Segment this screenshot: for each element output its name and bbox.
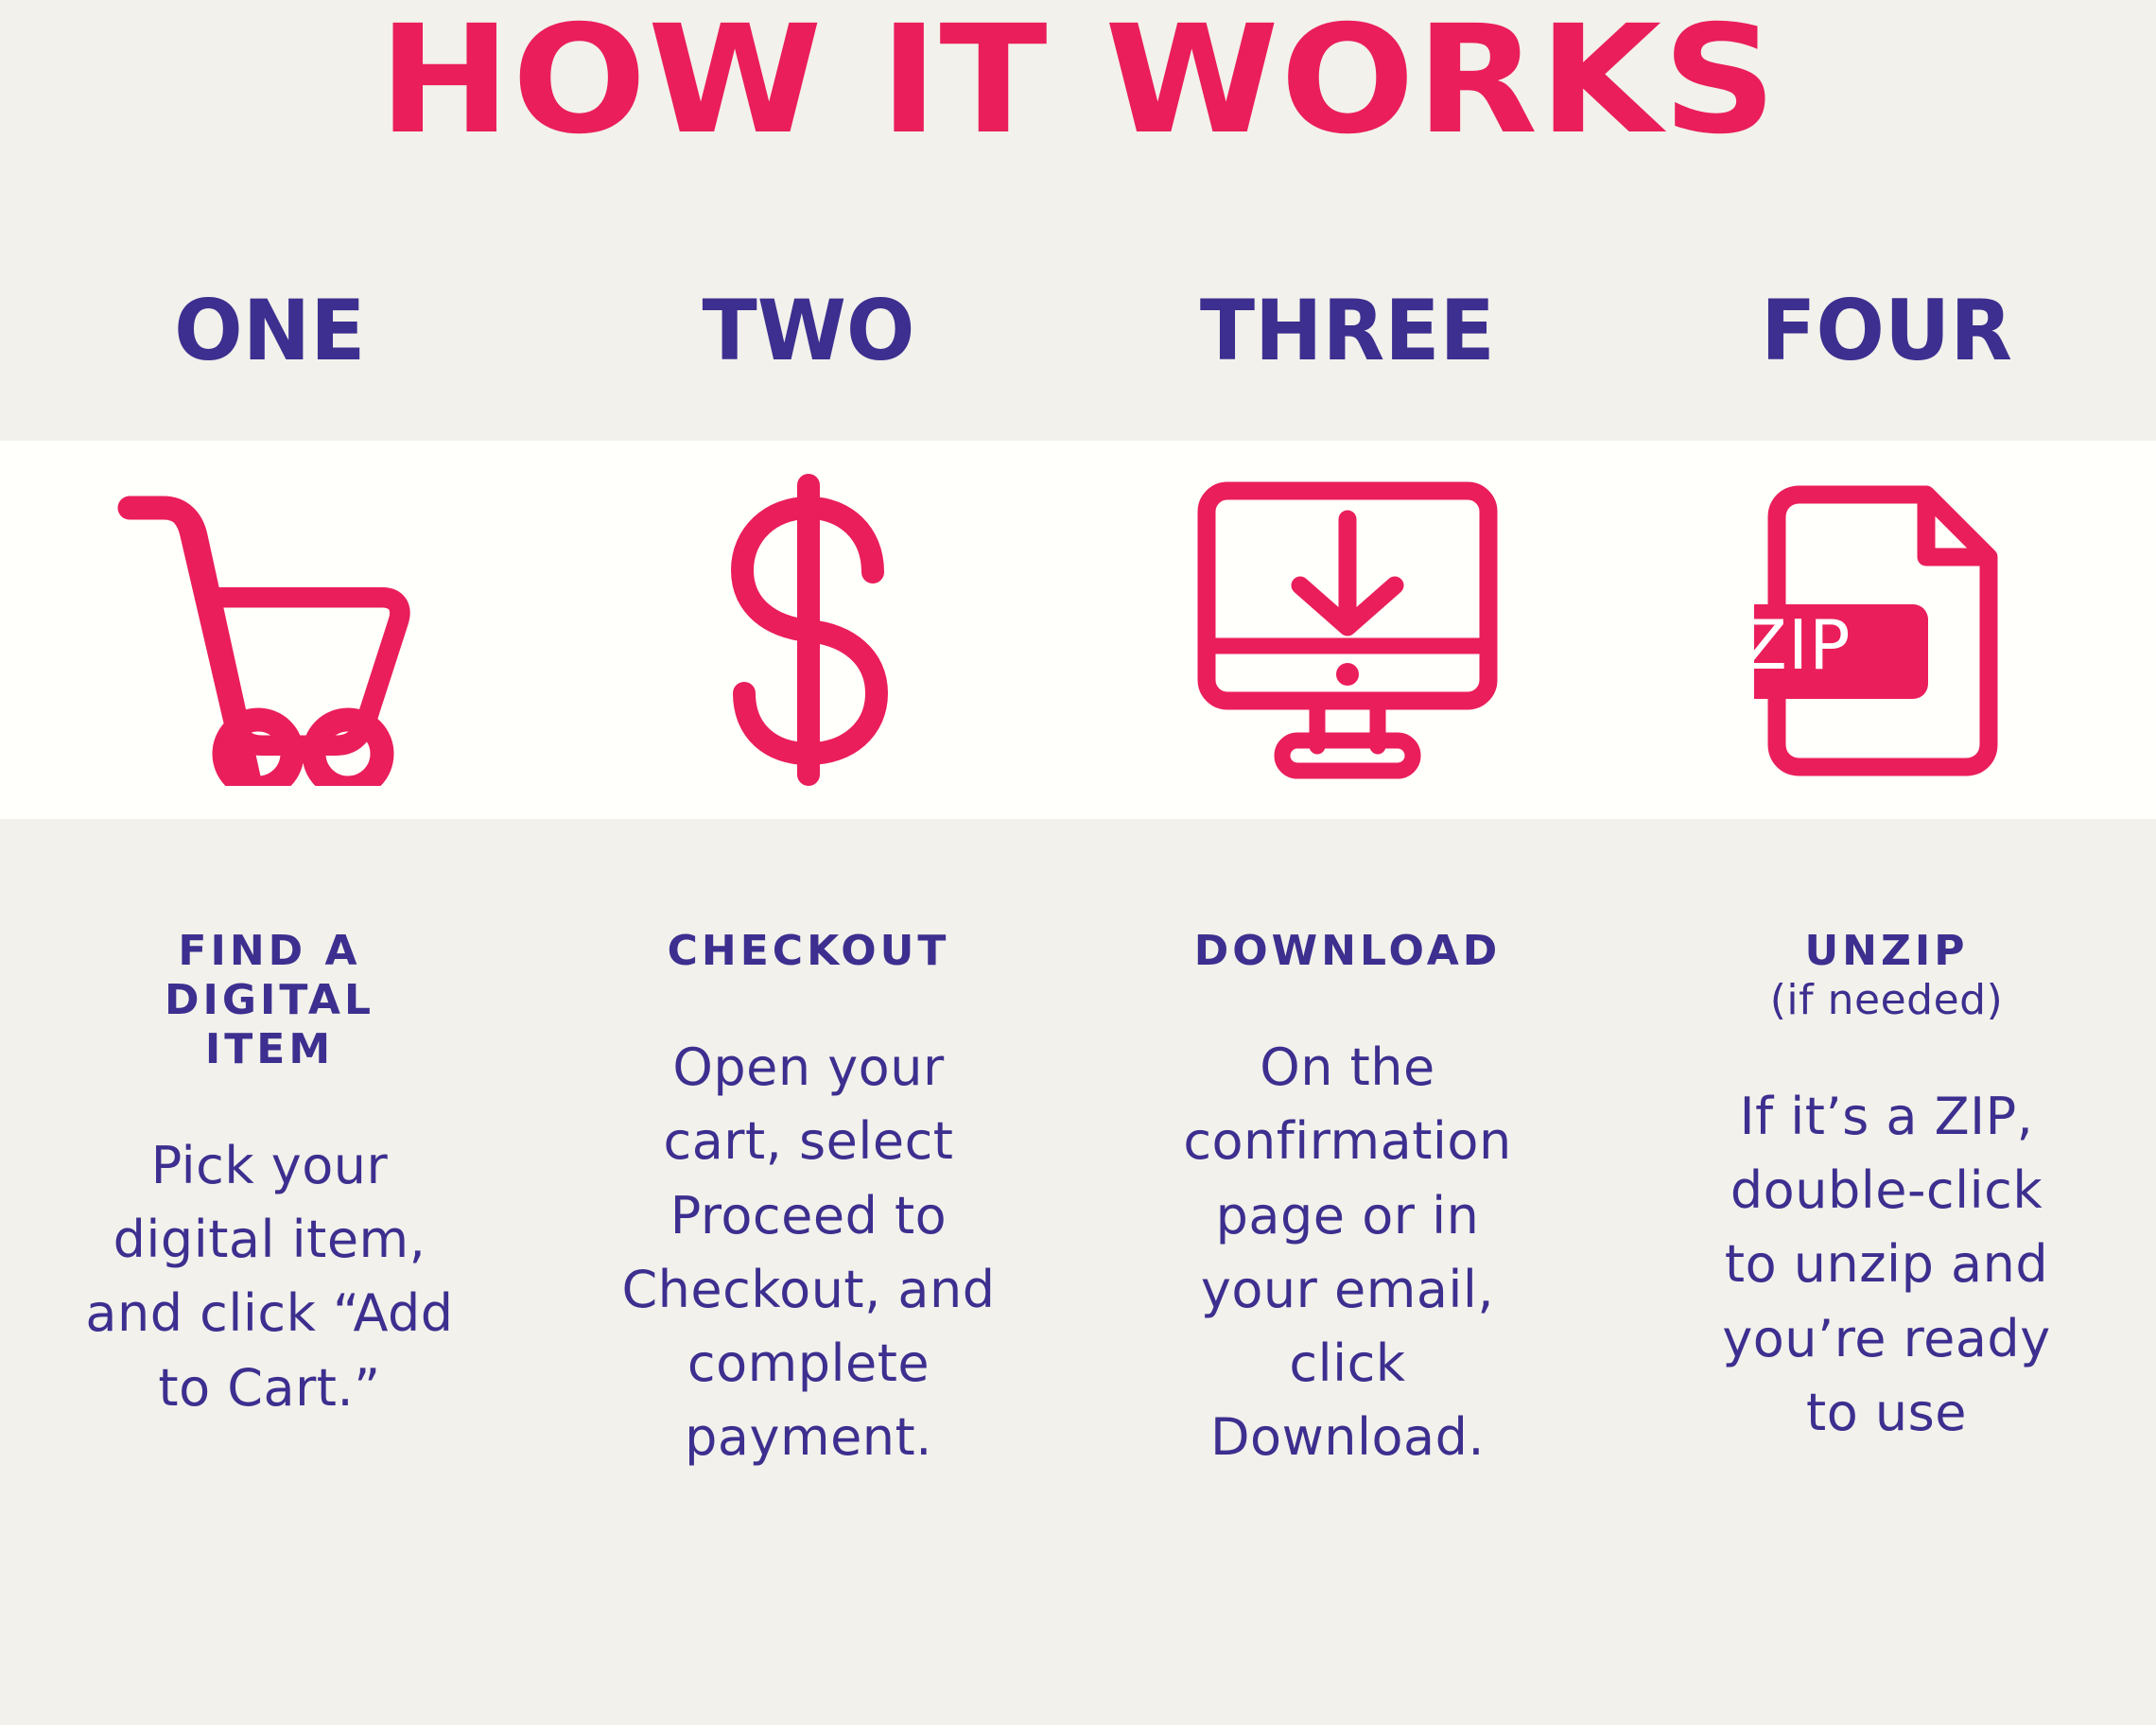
icon-cell-three [1078, 441, 1617, 819]
step-number-cell-four: FOUR [1617, 274, 2156, 388]
icon-band: ZIP [0, 441, 2156, 819]
page-title: HOW IT WORKS [0, 6, 2156, 155]
step-text-cell-two: CHECKOUT Open your cart, select Proceed … [539, 927, 1078, 1475]
zip-file-icon: ZIP [1754, 474, 2019, 786]
step-number-cell-three: THREE [1078, 274, 1617, 388]
step-heading-two: CHECKOUT [565, 927, 1052, 976]
step-number-label-three: THREE [1200, 289, 1495, 373]
step-number-cell-one: ONE [0, 274, 539, 388]
step-number-cell-two: TWO [539, 274, 1078, 388]
step-body-two: Open your cart, select Proceed to Checko… [615, 1031, 1002, 1475]
step-text-cell-one: FIND A DIGITAL ITEM Pick your digital it… [0, 927, 539, 1425]
step-number-label-one: ONE [174, 289, 365, 373]
step-heading-four: UNZIP [1643, 927, 2130, 976]
step-body-three: On the confirmation page or in your emai… [1158, 1031, 1537, 1475]
icon-cell-four: ZIP [1617, 441, 2156, 819]
icon-cell-one [0, 441, 539, 819]
step-heading-three: DOWNLOAD [1104, 927, 1591, 976]
step-text-cell-four: UNZIP (if needed) If it’s a ZIP, double-… [1617, 927, 2156, 1450]
step-text-cell-three: DOWNLOAD On the confirmation page or in … [1078, 927, 1617, 1475]
step-heading-one: FIND A DIGITAL ITEM [123, 927, 416, 1074]
dollar-sign-icon [714, 474, 903, 786]
monitor-download-icon [1191, 474, 1504, 786]
infographic-page: HOW IT WORKS ONE TWO THREE FOUR [0, 0, 2156, 1725]
zip-badge-label: ZIP [1754, 605, 1851, 685]
step-number-label-four: FOUR [1761, 289, 2012, 373]
step-numbers-row: ONE TWO THREE FOUR [0, 274, 2156, 388]
step-number-label-two: TWO [703, 289, 915, 373]
step-subheading-four: (if needed) [1643, 976, 2130, 1025]
step-body-four: If it’s a ZIP, double-click to unzip and… [1697, 1080, 2076, 1450]
icon-cell-two [539, 441, 1078, 819]
shopping-cart-icon [109, 474, 430, 786]
step-body-one: Pick your digital item, and click “Add t… [80, 1129, 459, 1425]
step-text-row: FIND A DIGITAL ITEM Pick your digital it… [0, 927, 2156, 1475]
